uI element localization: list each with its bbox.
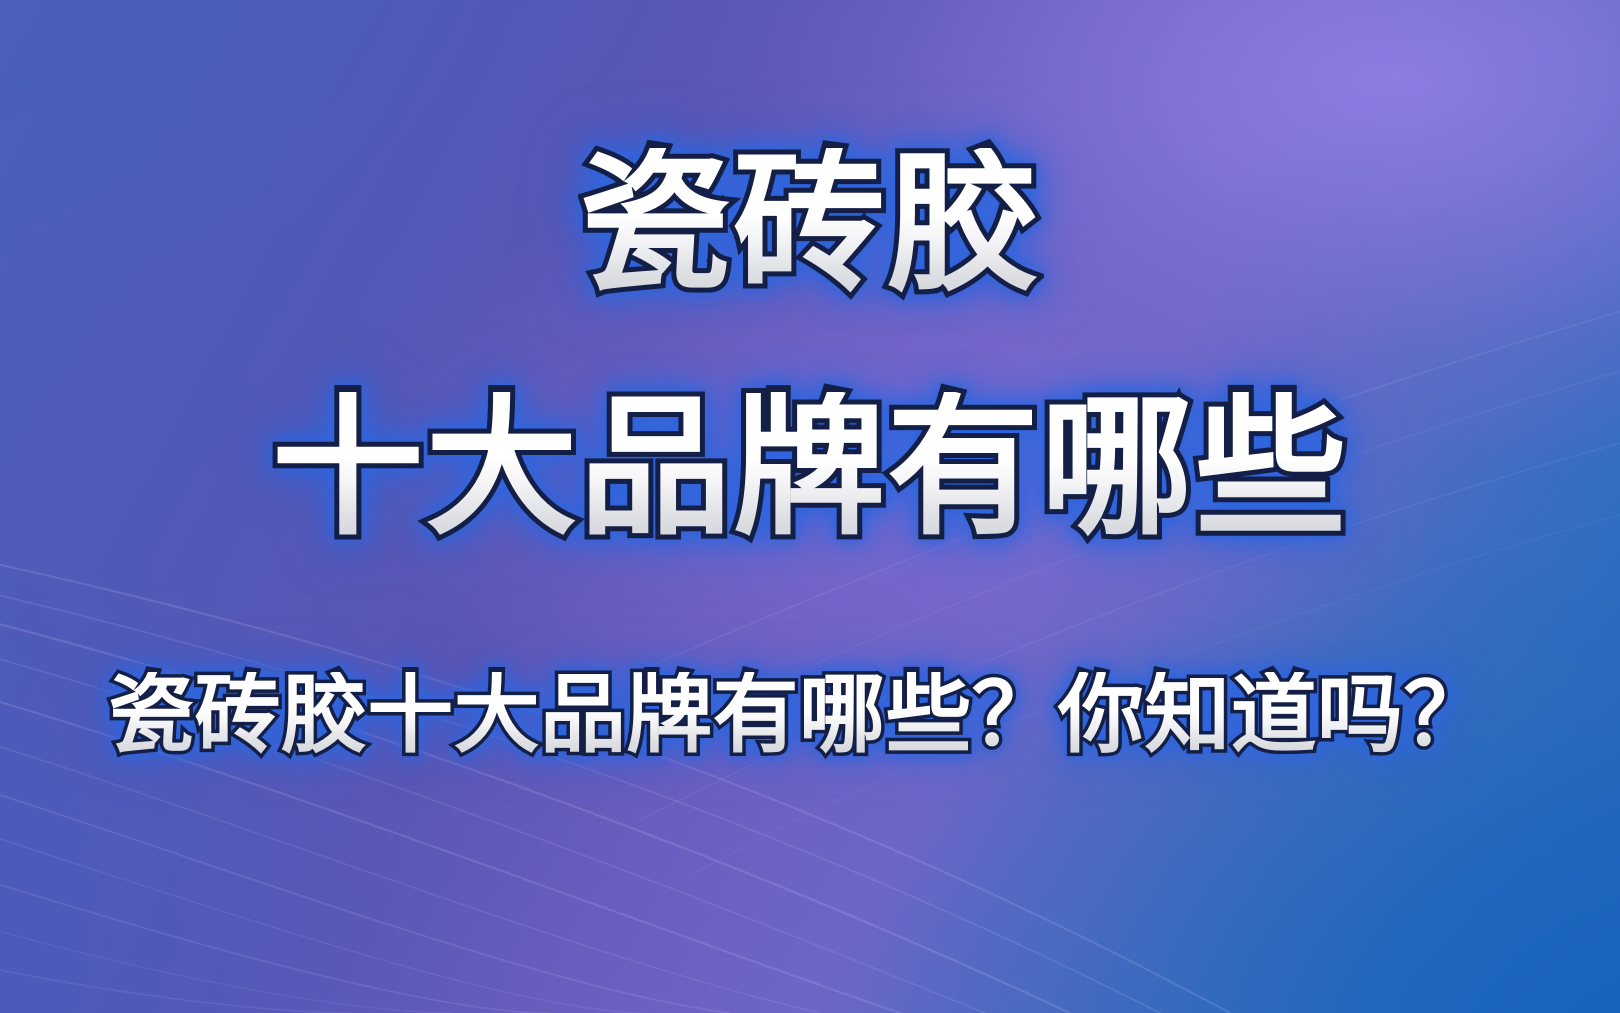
subtitle: 瓷砖胶十大品牌有哪些？你知道吗？	[0, 672, 1609, 758]
title-card: 瓷砖胶 瓷砖胶 十大品牌有哪些 十大品牌有哪些 瓷砖胶十大品牌有哪些？你知道吗？…	[0, 0, 1620, 1013]
headline-line-1-row: 瓷砖胶 瓷砖胶	[0, 148, 1620, 318]
subtitle-row: 瓷砖胶十大品牌有哪些？你知道吗？ 瓷砖胶十大品牌有哪些？你知道吗？	[0, 672, 1620, 782]
text-content: 瓷砖胶 瓷砖胶 十大品牌有哪些 十大品牌有哪些 瓷砖胶十大品牌有哪些？你知道吗？…	[0, 0, 1620, 1013]
headline-line-2: 十大品牌有哪些	[0, 392, 1620, 544]
headline-line-1: 瓷砖胶	[0, 148, 1620, 300]
headline-line-2-row: 十大品牌有哪些 十大品牌有哪些	[0, 392, 1620, 562]
